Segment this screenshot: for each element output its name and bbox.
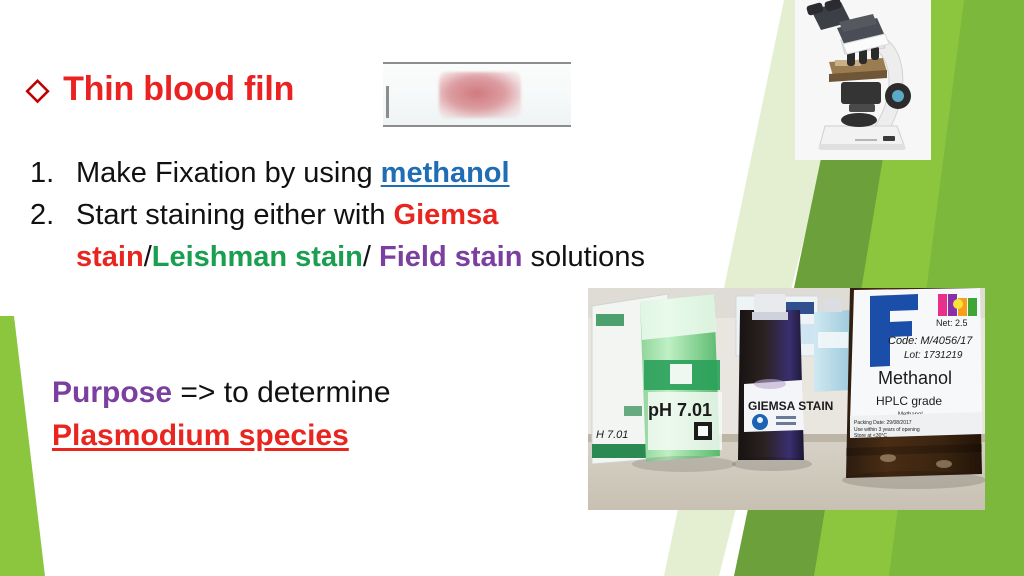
list-item: 1. Make Fixation by using methanol [30,152,710,194]
step1-plain-text: Make Fixation by using [76,157,381,189]
deco-shape-left-wedge [0,316,45,576]
methanol-link[interactable]: methanol [381,157,510,189]
separator-1: / [144,241,152,273]
methanol-fine-1: Packing Date: 29/08/2017 [854,420,912,426]
list-item-number: 2. [30,194,76,236]
methanol-fine-3: Store at <30°C [854,433,887,439]
list-item-number: 1. [30,152,76,194]
list-item-body: Start staining either with Giemsa stain/… [76,194,710,278]
list-item: 2. Start staining either with Giemsa sta… [30,194,710,278]
separator-2: / [363,241,379,273]
step2-lead-text: Start staining either with [76,199,394,231]
procedure-list: 1. Make Fixation by using methanol 2. St… [30,152,710,278]
presentation-slide: ◇ Thin blood filn 1. Make Fixation by us… [0,0,1024,576]
purpose-line-2: Plasmodium species [52,415,391,458]
step2-tail-text: solutions [530,241,644,273]
purpose-arrow-text: => to determine [180,376,390,409]
giemsa-bottle-label: GIEMSA STAIN [748,399,833,413]
methanol-code-label: Code: M/4056/17 [888,335,973,347]
blood-smear-stain [439,72,521,118]
field-stain-text: Field stain [379,241,522,273]
reagent-bottles-illustration: H 7.01 pH 7.01 GIEMSA STAIN [588,288,985,510]
buffer-bottle-label: pH 7.01 [648,400,712,420]
list-item-body: Make Fixation by using methanol [76,152,710,194]
reagent-bottles-image: H 7.01 pH 7.01 GIEMSA STAIN [588,288,985,510]
page-title-text: Thin blood filn [63,70,294,109]
page-title: ◇ Thin blood filn [26,70,294,109]
slide-glass [383,62,571,127]
methanol-name-label: Methanol [878,368,952,388]
plasmodium-species-text: Plasmodium species [52,419,349,452]
purpose-block: Purpose => to determine Plasmodium speci… [52,372,391,457]
methanol-grade-label: HPLC grade [876,394,942,408]
diamond-outline-icon: ◇ [26,75,49,105]
thin-blood-film-slide-image [383,62,571,127]
leishman-stain-text: Leishman stain [152,241,363,273]
purpose-label: Purpose [52,376,172,409]
methanol-lot-label: Lot: 1731219 [904,350,963,361]
buffer-box-label: H 7.01 [596,429,628,441]
methanol-net-label: Net: 2.5 [936,318,968,328]
microscope-image [795,0,931,160]
purpose-line-1: Purpose => to determine [52,372,391,415]
microscope-illustration [795,0,931,160]
